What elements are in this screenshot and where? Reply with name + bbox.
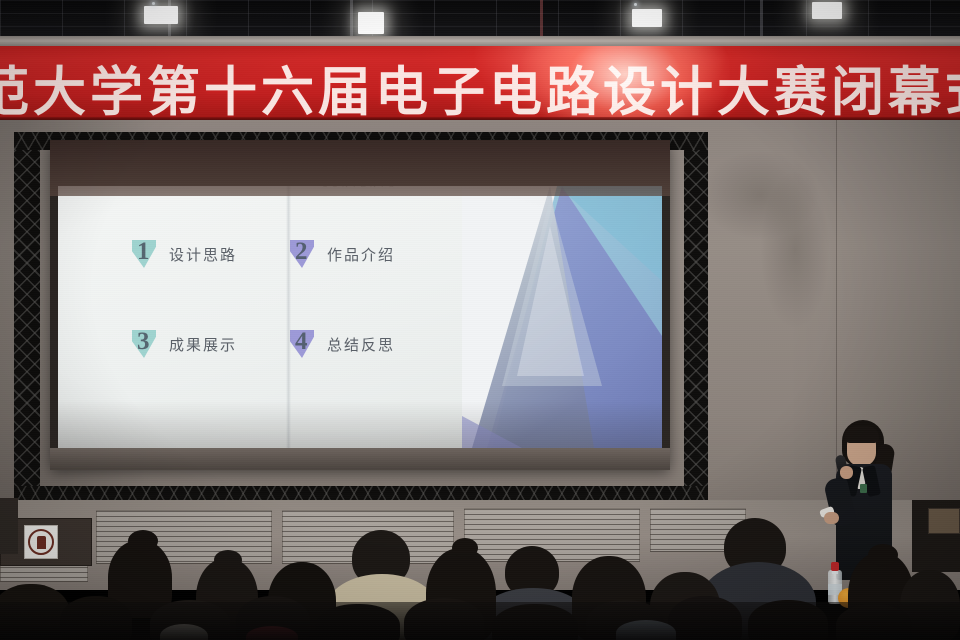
slide-artwork [462,186,662,448]
wall-smudge [760,170,830,330]
projected-slide: 目录 CONTENTS 1 设计思路 2 [58,186,662,448]
projection-screen: 目录 CONTENTS 1 设计思路 2 [50,140,670,470]
agenda-item-4: 4 总结反思 [290,330,448,358]
agenda-row: 3 成果展示 4 总结反思 [132,330,502,358]
agenda-number: 4 [295,328,308,356]
audience-hair-bun [868,544,898,566]
screen-fabric-crease [286,186,291,448]
ceiling-light-dot [152,2,155,5]
ceiling-light [632,9,662,27]
agenda-item-3: 3 成果展示 [132,330,290,358]
ceiling-light [144,6,178,24]
presenter-badge [860,484,867,493]
agenda-marker-icon: 3 [132,330,156,358]
agenda-list: 1 设计思路 2 作品介绍 [132,240,502,420]
truss-lattice [684,132,708,500]
agenda-label: 设计思路 [169,244,237,265]
presenter-hand [840,466,853,479]
truss-left [14,132,40,500]
agenda-row: 1 设计思路 2 作品介绍 [132,240,502,268]
auditorium-photo: 范大学第十六届电子电路设计大赛闭幕式 目录 CONTENTS 1 [0,0,960,640]
truss-lattice [14,132,40,500]
agenda-marker-icon: 1 [132,240,156,268]
agenda-marker-icon: 4 [290,330,314,358]
audience-hair-bun [452,538,478,558]
agenda-label: 成果展示 [169,334,237,355]
banner-text: 范大学第十六届电子电路设计大赛闭幕式 [0,50,960,122]
agenda-number: 3 [137,328,150,356]
audience-hair-bun [214,550,242,570]
presenter-fringe [844,426,879,443]
screen-lower-shadow [50,448,670,470]
mountain-triangle-icon [462,186,662,448]
ceiling-light [358,12,384,34]
agenda-label: 作品介绍 [327,244,395,265]
truss-right [684,132,708,500]
audience-foreground-shadow [0,602,960,640]
ceiling-light-dot [634,3,637,6]
agenda-number: 1 [137,238,150,266]
agenda-item-1: 1 设计思路 [132,240,290,268]
slide-subtitle: CONTENTS [322,186,398,189]
event-banner: 范大学第十六届电子电路设计大赛闭幕式 [0,46,960,122]
agenda-item-2: 2 作品介绍 [290,240,448,268]
agenda-marker-icon: 2 [290,240,314,268]
audience-hair-bun [128,530,158,552]
ceiling-light [812,2,842,19]
agenda-number: 2 [295,238,308,266]
agenda-label: 总结反思 [327,334,395,355]
